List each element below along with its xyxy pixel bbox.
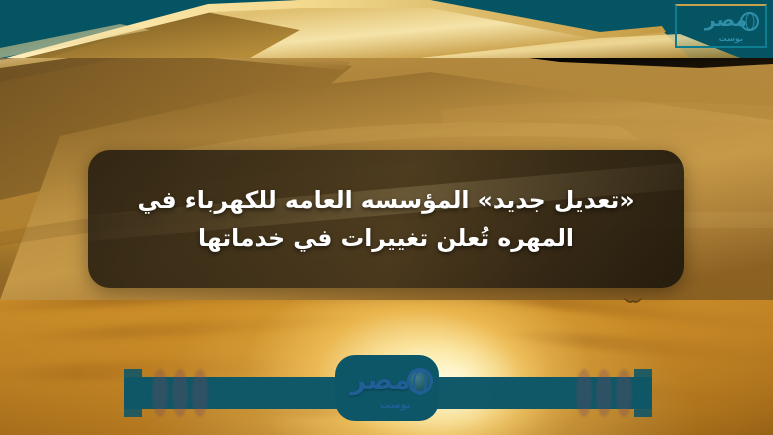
brand-logo-bottom[interactable]: مصر بوست [335,355,439,421]
ribbon-ripple [152,369,168,417]
headline-panel: «تعديل جديد» المؤسسه العامه للكهرباء في … [88,150,684,288]
ribbon-ripple [596,369,612,417]
brand-name-bottom: مصر [350,367,410,394]
top-decorative-banner: مصر بوست [0,0,773,58]
ribbon-ripple [172,369,188,417]
ribbon-ripple [576,369,592,417]
ribbon-ripple [616,369,632,417]
gold-geometry [0,0,773,58]
brand-sub-bottom: بوست [380,401,410,411]
page-title: «تعديل جديد» المؤسسه العامه للكهرباء في … [88,181,684,257]
brand-sub-top: بوست [719,35,743,43]
bottom-brand-bar: مصر بوست [0,353,773,435]
news-card: مصر بوست «تعديل جديد» المؤسسه العامه للك… [0,0,773,435]
brand-logo-top[interactable]: مصر بوست [675,4,767,48]
bird-silhouette-icon [622,296,644,306]
brand-name-top: مصر [705,11,747,30]
ribbon-ripple [192,369,208,417]
